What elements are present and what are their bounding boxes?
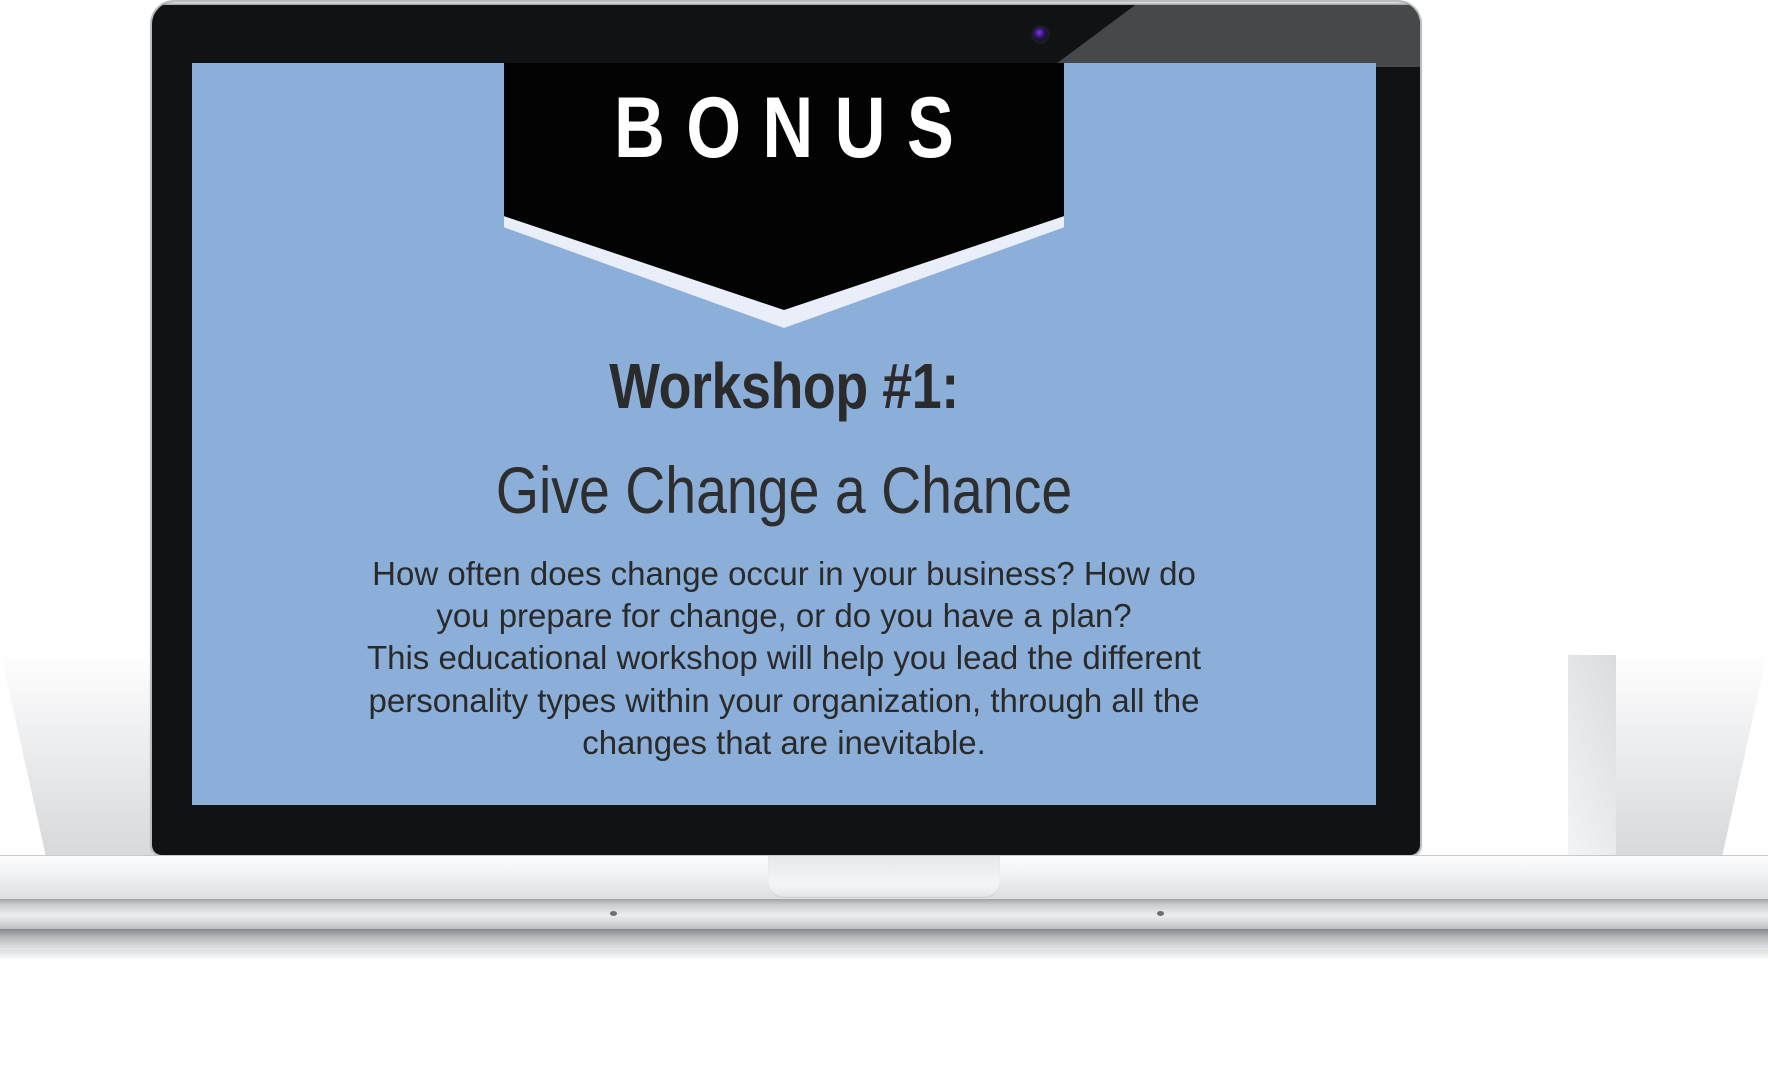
slide-body-copy: How often does change occur in your busi… [319, 553, 1249, 764]
laptop-base [0, 855, 1768, 950]
bezel-glare [1052, 5, 1420, 67]
banner-label: BONUS [554, 85, 1013, 171]
base-notch [768, 856, 1000, 898]
base-underside [0, 929, 1768, 950]
slide-title-block: Workshop #1: Give Change a Chance [192, 353, 1376, 527]
body-line: changes that are inevitable. [319, 722, 1249, 764]
base-foot-left [610, 911, 617, 916]
body-line: personality types within your organizati… [319, 680, 1249, 722]
base-top-surface [0, 855, 1768, 900]
base-front-edge [0, 899, 1768, 929]
presentation-slide: BONUS Workshop #1: Give Change a Chance … [192, 63, 1376, 805]
page-title: Workshop #1: [287, 353, 1282, 420]
bonus-banner: BONUS [504, 63, 1064, 328]
laptop-lid: BONUS Workshop #1: Give Change a Chance … [152, 2, 1420, 855]
lid-top-edge [152, 2, 1420, 5]
body-line: you prepare for change, or do you have a… [319, 595, 1249, 637]
base-flank-left [0, 650, 152, 855]
base-flank-right [1616, 650, 1768, 855]
body-line: How often does change occur in your busi… [319, 553, 1249, 595]
page-subtitle: Give Change a Chance [287, 454, 1282, 527]
base-foot-right [1157, 911, 1164, 916]
webcam-icon [1033, 27, 1048, 42]
body-line: This educational workshop will help you … [319, 637, 1249, 679]
laptop-mockup: BONUS Workshop #1: Give Change a Chance … [0, 0, 1768, 1070]
